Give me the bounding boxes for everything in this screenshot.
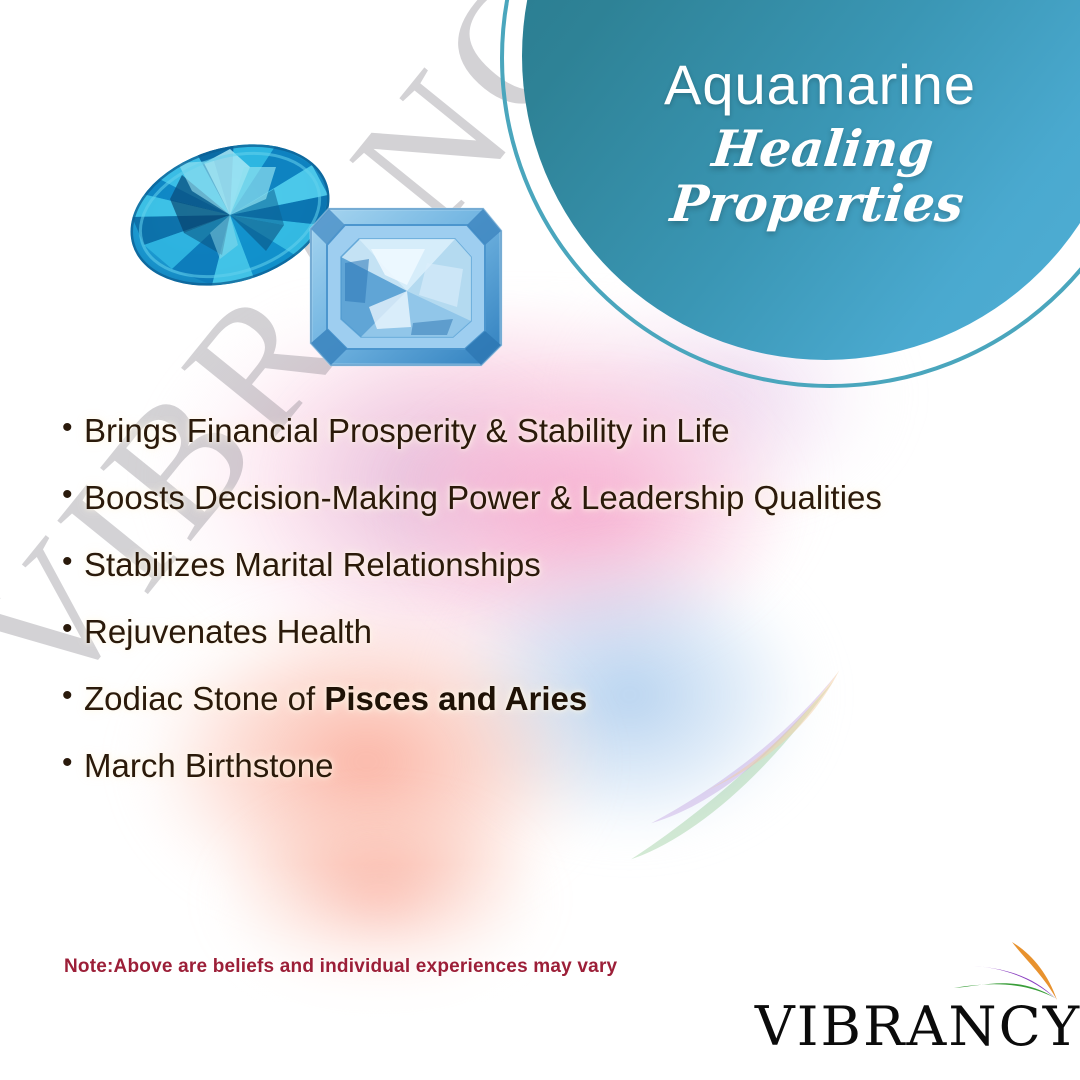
header-text-block: Aquamarine Healing Properties xyxy=(560,56,1080,231)
bullet-dot-icon: • xyxy=(62,406,84,450)
list-item: • Boosts Decision-Making Power & Leaders… xyxy=(62,473,992,523)
list-item: • Brings Financial Prosperity & Stabilit… xyxy=(62,406,992,456)
bullet-dot-icon: • xyxy=(62,540,84,584)
list-item-text: March Birthstone xyxy=(84,741,992,791)
emerald-cut-gemstone-image xyxy=(307,203,505,371)
list-item-text: Stabilizes Marital Relationships xyxy=(84,540,992,590)
watercolor-wash-salmon-2 xyxy=(170,790,590,1050)
list-item-text: Boosts Decision-Making Power & Leadershi… xyxy=(84,473,992,523)
brand-wordmark: VIBRANCYS xyxy=(755,1000,1071,1054)
bullet-dot-icon: • xyxy=(62,607,84,651)
disclaimer-note: Note:Above are beliefs and individual ex… xyxy=(64,956,617,978)
list-item: • Zodiac Stone of Pisces and Aries xyxy=(62,674,992,724)
page-title: Aquamarine xyxy=(560,56,1080,115)
list-item-text: Brings Financial Prosperity & Stability … xyxy=(84,406,992,456)
list-item-text: Rejuvenates Health xyxy=(84,607,992,657)
list-item-text: Zodiac Stone of Pisces and Aries xyxy=(84,674,992,724)
poster-canvas: VIBRANCYS Aquamarine Healing Properties xyxy=(0,0,1080,1080)
list-item: • Rejuvenates Health xyxy=(62,607,992,657)
list-item: • Stabilizes Marital Relationships xyxy=(62,540,992,590)
bullet-dot-icon: • xyxy=(62,473,84,517)
page-subtitle: Healing Properties xyxy=(554,121,1080,231)
bullet-dot-icon: • xyxy=(62,674,84,718)
benefits-list: • Brings Financial Prosperity & Stabilit… xyxy=(62,406,992,808)
list-item: • March Birthstone xyxy=(62,741,992,791)
bullet-dot-icon: • xyxy=(62,741,84,785)
oval-gemstone-image xyxy=(126,133,334,298)
brand-logo: VIBRANCYS xyxy=(758,938,1068,1056)
